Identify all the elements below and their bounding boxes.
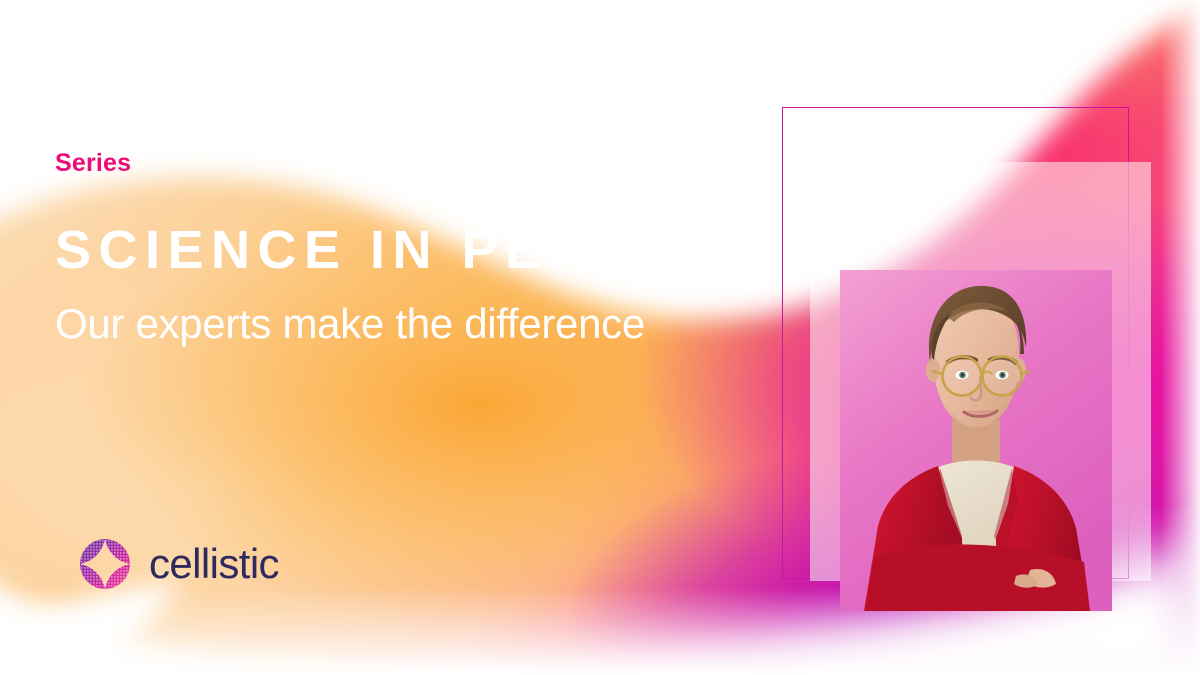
cellistic-star-circle-mark [78,537,132,591]
headline-group: Series SCIENCE IN PERSON Our experts mak… [55,150,775,348]
series-eyebrow: Series [55,150,775,178]
expert-portrait [840,270,1112,611]
expert-portrait-illustration [840,270,1112,611]
banner-canvas: Series SCIENCE IN PERSON Our experts mak… [0,0,1200,675]
page-subtitle: Our experts make the difference [55,300,775,348]
cellistic-wordmark: cellistic [149,543,279,585]
page-title: SCIENCE IN PERSON [55,222,775,279]
cellistic-logo[interactable]: cellistic [78,537,279,591]
